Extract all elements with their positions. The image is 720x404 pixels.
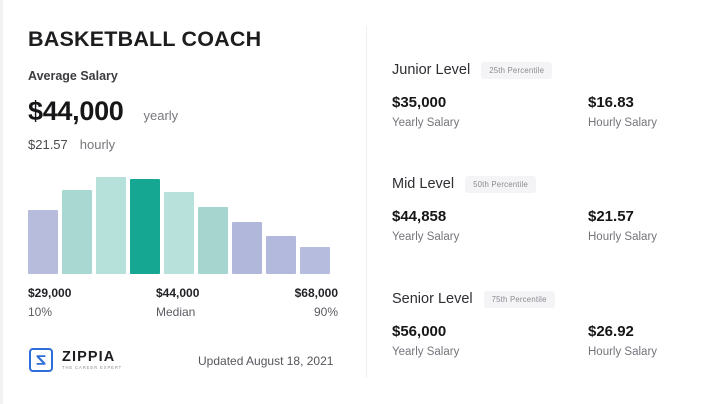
chart-bar	[96, 177, 126, 274]
yearly-salary-value: $56,000	[392, 323, 588, 340]
level-figures: $56,000 Yearly Salary $26.92 Hourly Sala…	[392, 323, 702, 358]
axis-label-low-value: $29,000	[28, 286, 71, 300]
axis-label-high-value: $68,000	[295, 286, 338, 300]
yearly-salary-caption: Yearly Salary	[392, 231, 588, 243]
level-name: Mid Level	[392, 176, 454, 192]
level-name: Senior Level	[392, 291, 473, 307]
level-block-mid: Mid Level 50th Percentile $44,858 Yearly…	[392, 174, 702, 243]
hourly-salary-caption: Hourly Salary	[588, 346, 702, 358]
chart-bar	[164, 192, 194, 274]
hourly-salary-value: $16.83	[588, 94, 702, 111]
hourly-salary-caption: Hourly Salary	[588, 117, 702, 129]
yearly-salary-column: $44,858 Yearly Salary	[392, 208, 588, 243]
average-yearly-row: $44,000 yearly	[28, 96, 178, 127]
hourly-salary-value: $26.92	[588, 323, 702, 340]
average-hourly-value: $21.57	[28, 137, 68, 152]
axis-label-median: Median	[156, 305, 195, 319]
zippia-tagline: THE CAREER EXPERT	[62, 366, 122, 370]
hourly-salary-column: $26.92 Hourly Salary	[588, 323, 702, 358]
chart-bar	[198, 207, 228, 274]
average-hourly-row: $21.57 hourly	[28, 137, 115, 152]
page-title: BASKETBALL COACH	[28, 27, 261, 52]
zippia-logo[interactable]: ZIPPIA THE CAREER EXPERT	[29, 348, 122, 372]
chart-bar	[266, 236, 296, 274]
hourly-salary-caption: Hourly Salary	[588, 231, 702, 243]
yearly-salary-value: $44,858	[392, 208, 588, 225]
chart-bar	[300, 247, 330, 274]
average-yearly-value: $44,000	[28, 96, 124, 127]
hourly-salary-column: $16.83 Hourly Salary	[588, 94, 702, 129]
yearly-salary-column: $35,000 Yearly Salary	[392, 94, 588, 129]
level-header: Senior Level 75th Percentile	[392, 289, 702, 309]
level-header: Junior Level 25th Percentile	[392, 60, 702, 80]
average-salary-label: Average Salary	[28, 69, 118, 83]
level-figures: $35,000 Yearly Salary $16.83 Hourly Sala…	[392, 94, 702, 129]
percentile-badge: 50th Percentile	[465, 176, 536, 193]
yearly-salary-value: $35,000	[392, 94, 588, 111]
level-figures: $44,858 Yearly Salary $21.57 Hourly Sala…	[392, 208, 702, 243]
axis-label-high-percent: 90%	[314, 305, 338, 319]
zippia-z-icon	[29, 348, 53, 372]
percentile-badge: 75th Percentile	[484, 291, 555, 308]
yearly-salary-caption: Yearly Salary	[392, 346, 588, 358]
average-yearly-unit: yearly	[144, 108, 179, 123]
hourly-salary-value: $21.57	[588, 208, 702, 225]
hourly-salary-column: $21.57 Hourly Salary	[588, 208, 702, 243]
chart-bar	[232, 222, 262, 274]
updated-date: Updated August 18, 2021	[198, 354, 333, 368]
zippia-wordmark: ZIPPIA	[62, 350, 122, 365]
level-block-junior: Junior Level 25th Percentile $35,000 Yea…	[392, 60, 702, 129]
right-panel: Junior Level 25th Percentile $35,000 Yea…	[366, 0, 720, 404]
chart-bar-median	[130, 179, 160, 274]
level-name: Junior Level	[392, 62, 470, 78]
zippia-logo-text: ZIPPIA THE CAREER EXPERT	[62, 350, 122, 371]
chart-bar	[62, 190, 92, 274]
percentile-badge: 25th Percentile	[481, 62, 552, 79]
salary-info-card: BASKETBALL COACH Average Salary $44,000 …	[0, 0, 720, 404]
average-hourly-unit: hourly	[80, 137, 115, 152]
left-panel: BASKETBALL COACH Average Salary $44,000 …	[0, 0, 366, 404]
yearly-salary-column: $56,000 Yearly Salary	[392, 323, 588, 358]
salary-distribution-chart	[28, 168, 338, 274]
level-header: Mid Level 50th Percentile	[392, 174, 702, 194]
axis-label-low-percent: 10%	[28, 305, 52, 319]
axis-label-median-value: $44,000	[156, 286, 199, 300]
chart-bar	[28, 210, 58, 274]
level-block-senior: Senior Level 75th Percentile $56,000 Yea…	[392, 289, 702, 358]
yearly-salary-caption: Yearly Salary	[392, 117, 588, 129]
